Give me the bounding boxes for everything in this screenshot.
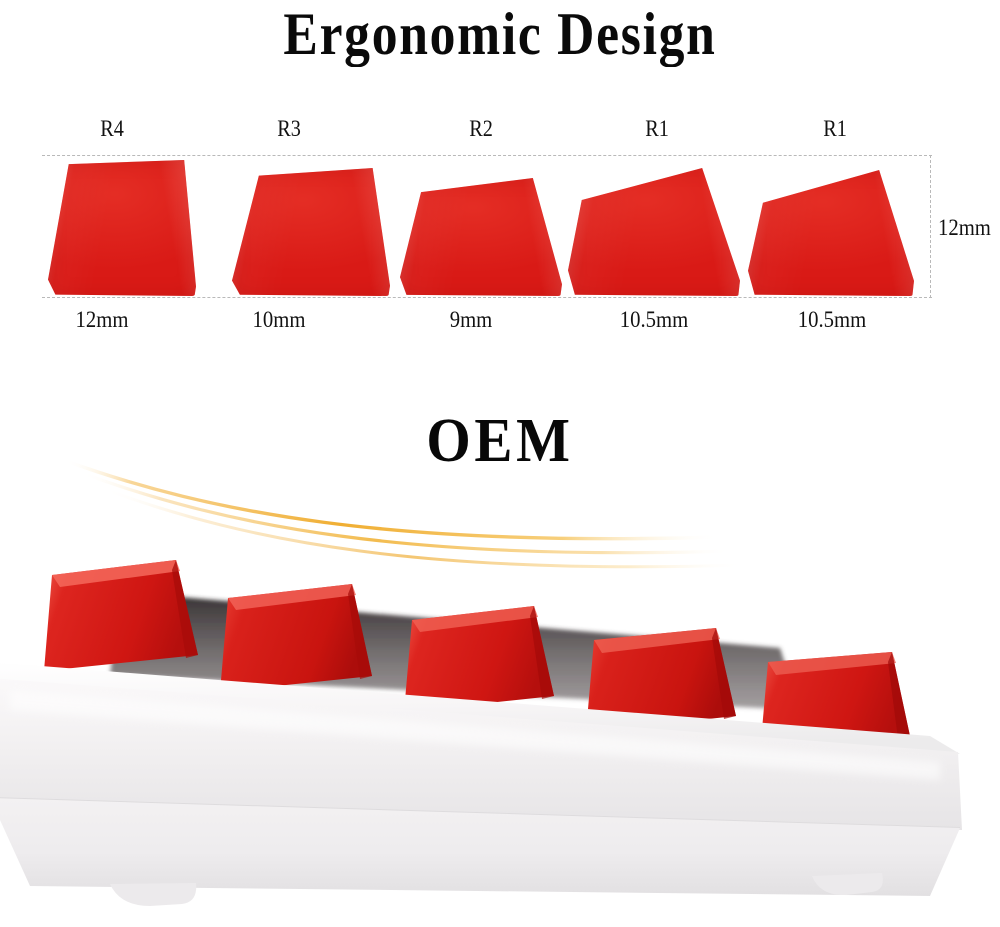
keycap-profile-r4 — [48, 160, 196, 296]
keycap-photo-3 — [404, 606, 554, 712]
keycap-profile-r1-first — [568, 168, 740, 296]
page-title: Ergonomic Design — [70, 0, 930, 70]
infographic-page: Ergonomic Design R4 R3 R2 R1 R1 12mm 12m… — [0, 0, 1000, 927]
width-label-r1-first: 10.5mm — [600, 305, 708, 335]
row-label-r1-first: R1 — [622, 114, 692, 144]
keycap-profile-diagram: R4 R3 R2 R1 R1 12mm 12mm 10mm 9mm 10.5mm… — [0, 100, 1000, 350]
guide-line-height — [930, 155, 931, 298]
keycap-profile-r3 — [232, 168, 390, 296]
width-label-r1-second: 10.5mm — [778, 305, 886, 335]
keyboard-illustration — [0, 540, 1000, 927]
keyboard-product-photo — [0, 540, 1000, 927]
width-label-r4: 12mm — [48, 305, 156, 335]
row-label-r3: R3 — [254, 114, 324, 144]
row-label-r4: R4 — [77, 114, 147, 144]
row-label-r1-second: R1 — [800, 114, 870, 144]
keycap-profile-r2 — [400, 178, 562, 296]
guide-line-top — [42, 155, 932, 156]
height-dimension-label: 12mm — [938, 213, 991, 243]
guide-line-bottom — [42, 297, 932, 298]
keycap-profile-r1-second — [748, 170, 914, 296]
row-label-r2: R2 — [446, 114, 516, 144]
keycap-photo-1 — [44, 560, 198, 671]
keycap-photo-2 — [220, 584, 372, 692]
keyboard-foot-left — [110, 883, 196, 906]
width-label-r2: 9mm — [417, 305, 525, 335]
width-label-r3: 10mm — [225, 305, 333, 335]
